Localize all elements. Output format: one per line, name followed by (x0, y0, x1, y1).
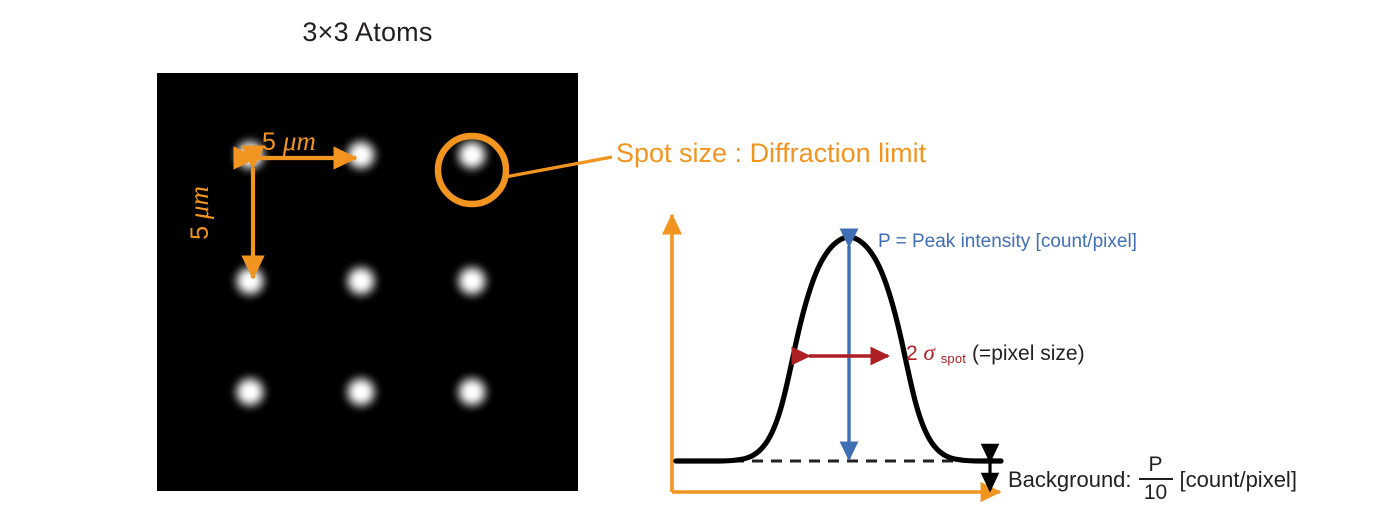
background-fraction: P 10 (1139, 454, 1173, 505)
fraction-bar (1139, 478, 1173, 480)
sigma-subscript: spot (941, 351, 966, 366)
sigma-symbol: σ (924, 340, 935, 365)
background-denominator: 10 (1141, 482, 1170, 504)
atom-spot (227, 258, 273, 304)
atom-image-panel (157, 73, 578, 491)
background-units: [count/pixel] (1180, 469, 1297, 491)
spacing-v-unit: μm (184, 186, 214, 219)
spacing-h-value: 5 (262, 128, 276, 156)
atom-spot (449, 132, 495, 178)
spacing-label-vertical: 5 μm (184, 186, 215, 240)
background-numerator: P (1146, 454, 1166, 476)
atom-spot (338, 369, 384, 415)
spacing-v-value: 5 (186, 226, 214, 240)
atom-spot (449, 369, 495, 415)
atom-spot (449, 258, 495, 304)
sigma-spot-label: 2 σ spot (=pixel size) (906, 341, 1085, 365)
peak-intensity-label: P = Peak intensity [count/pixel] (878, 232, 1137, 251)
figure-root: 3×3 Atoms (0, 0, 1400, 530)
background-label: Background: P 10 [count/pixel] (1008, 455, 1297, 506)
sigma-coefficient: 2 (906, 342, 918, 365)
atom-spot (227, 369, 273, 415)
sigma-note: (=pixel size) (972, 342, 1085, 365)
spacing-label-horizontal: 5 μm (262, 126, 316, 157)
page-title: 3×3 Atoms (157, 17, 578, 48)
atom-spot (338, 132, 384, 178)
spot-size-callout-label: Spot size : Diffraction limit (616, 140, 926, 167)
atom-spot (338, 258, 384, 304)
spacing-h-unit: μm (283, 126, 316, 156)
background-prefix: Background: (1008, 469, 1132, 491)
